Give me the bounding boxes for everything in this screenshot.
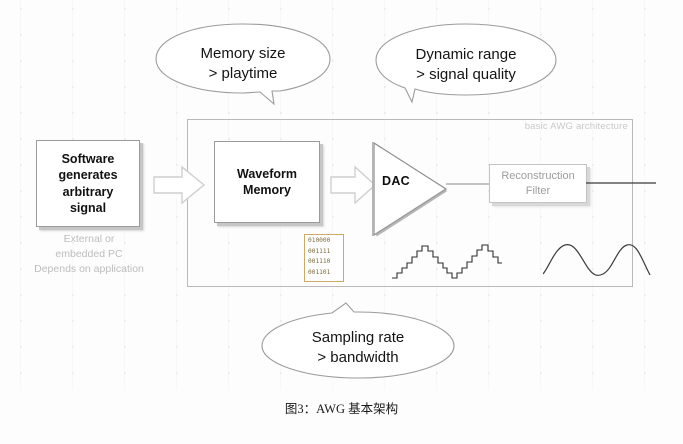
sine-waveform	[543, 234, 651, 282]
binary-sample-row: 010000	[308, 236, 341, 247]
reconstruction-filter-label: Reconstruction Filter	[501, 169, 574, 197]
reconstruction-filter-block: Reconstruction Filter	[489, 164, 587, 203]
waveform-memory-block: Waveform Memory	[214, 141, 320, 223]
staircase-waveform	[392, 240, 502, 282]
binary-sample-row: 001111	[308, 247, 341, 258]
waveform-memory-label: Waveform Memory	[237, 166, 297, 199]
binary-sample-row: 001110	[308, 257, 341, 268]
arrow-software-to-memory	[152, 164, 208, 206]
figure-canvas: basic AWG architecture Software generate…	[0, 0, 683, 444]
binary-sample-block: 010000 001111 001110 001101	[304, 234, 344, 282]
figure-caption: 图3：AWG 基本架构	[0, 398, 683, 417]
output-signal-line	[586, 180, 658, 186]
callout-memory-size: Memory size > playtime	[152, 22, 334, 106]
architecture-container-label: basic AWG architecture	[525, 121, 628, 132]
callout-dynamic-range: Dynamic range > signal quality	[372, 22, 560, 108]
dac-to-filter-connector	[446, 181, 492, 187]
software-block: Software generates arbitrary signal	[36, 140, 140, 227]
binary-sample-row: 001101	[308, 268, 341, 279]
software-block-label: Software generates arbitrary signal	[58, 151, 117, 217]
dac-block	[368, 139, 450, 239]
software-block-caption: External or embedded PC Depends on appli…	[6, 232, 172, 277]
dac-label: DAC	[382, 174, 410, 188]
callout-sampling-rate: Sampling rate > bandwidth	[258, 302, 458, 380]
